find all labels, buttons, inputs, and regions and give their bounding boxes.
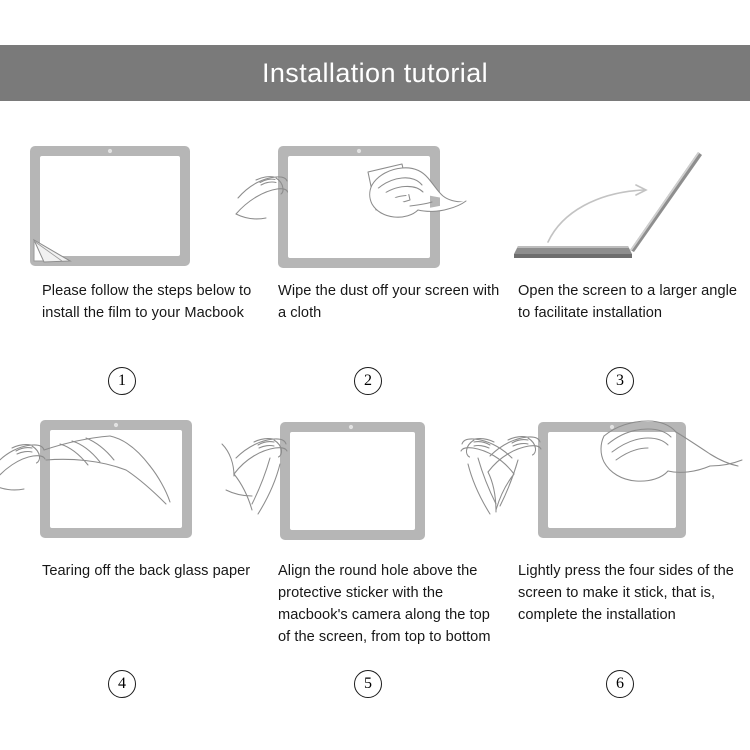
step-caption-6: Lightly press the four sides of the scre… (518, 560, 750, 626)
laptop-lid-icon (630, 152, 702, 252)
illustration-wipe-screen (250, 128, 500, 268)
step-caption-2: Wipe the dust off your screen with a clo… (278, 280, 503, 324)
pinching-hand-icon (0, 445, 45, 490)
step-panel-6: Lightly press the four sides of the scre… (500, 408, 750, 708)
open-direction-arrow-icon (548, 185, 646, 242)
step-panel-2: Wipe the dust off your screen with a clo… (250, 128, 500, 408)
illustration-align-film-two-hands (250, 408, 500, 548)
right-hand-wiping-icon (370, 168, 466, 217)
step-panel-3: Open the screen to a larger angle to fac… (500, 128, 750, 408)
step-badge-4: 4 (108, 670, 136, 698)
illustration-tablet-peeling-film (0, 128, 250, 268)
page-title: Installation tutorial (262, 60, 488, 87)
device-frame-icon (538, 422, 686, 538)
laptop-base-icon (514, 246, 632, 258)
step-panel-4: Tearing off the back glass paper 4 (0, 408, 250, 708)
step-caption-5: Align the round hole above the protectiv… (278, 560, 503, 648)
step-badge-3: 3 (606, 367, 634, 395)
step-caption-4: Tearing off the back glass paper (42, 560, 257, 582)
device-frame-icon (280, 422, 425, 540)
device-frame-icon (278, 146, 440, 268)
illustration-tear-backing-paper (0, 408, 250, 548)
steps-grid: Please follow the steps below to install… (0, 128, 750, 708)
step-caption-1: Please follow the steps below to install… (42, 280, 257, 324)
device-frame-icon (30, 146, 190, 266)
step-panel-5: Align the round hole above the protectiv… (250, 408, 500, 708)
illustration-open-laptop-angle (500, 128, 750, 268)
step-panel-1: Please follow the steps below to install… (0, 128, 250, 408)
step-badge-5: 5 (354, 670, 382, 698)
illustration-press-screen-edges (500, 408, 750, 548)
step-badge-6: 6 (606, 670, 634, 698)
step-caption-3: Open the screen to a larger angle to fac… (518, 280, 750, 324)
step-badge-1: 1 (108, 367, 136, 395)
header-banner: Installation tutorial (0, 45, 750, 101)
step-badge-2: 2 (354, 367, 382, 395)
